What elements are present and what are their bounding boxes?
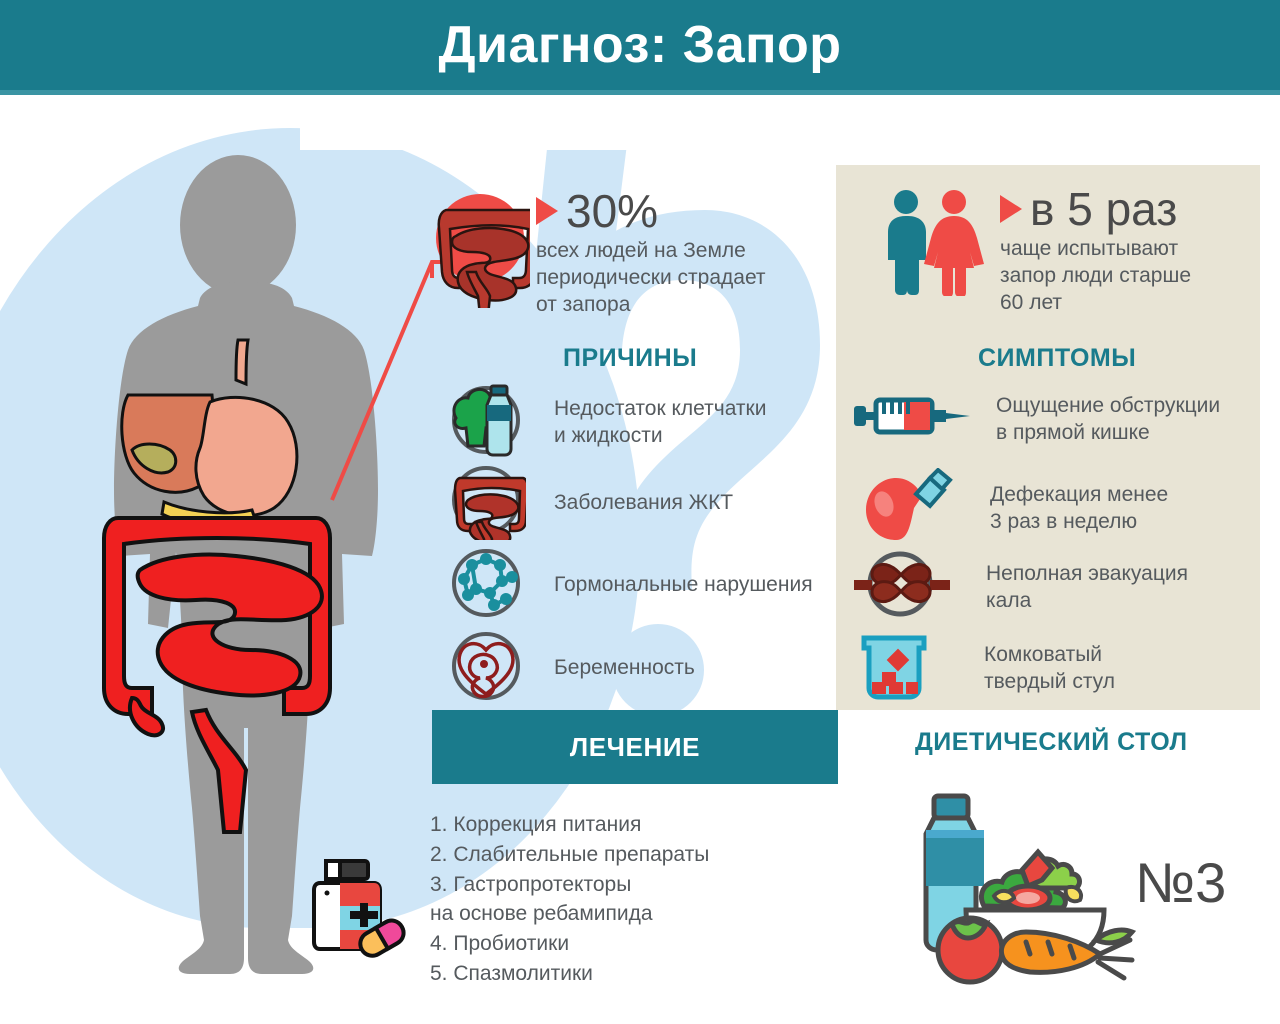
causes-heading: ПРИЧИНЫ <box>563 344 697 373</box>
cause-item-gi-disease: Заболевания ЖКТ <box>446 462 733 545</box>
cause-label-gi-disease: Заболевания ЖКТ <box>554 490 733 517</box>
symptom-label-hard-stool: Комковатый твердый стул <box>984 642 1115 696</box>
symptom-label-obstruction: Ощущение обструкции в прямой кишке <box>996 393 1220 447</box>
medicine-bottle-pills-icon <box>300 855 410 970</box>
diet-number: №3 <box>1135 855 1226 911</box>
treatment-heading: ЛЕЧЕНИЕ <box>570 732 700 763</box>
cause-item-hormonal: Гормональные нарушения <box>446 545 813 626</box>
embryo-heart-icon <box>446 628 526 709</box>
treatment-item: 3. Гастропротекторы на основе ребамипида <box>430 870 830 930</box>
knot-icon <box>852 548 962 627</box>
colon-icon <box>446 462 526 545</box>
treatment-banner: ЛЕЧЕНИЕ <box>432 710 838 784</box>
stat-value-prevalence: 30% <box>536 188 766 234</box>
stat-desc-age-risk: чаще испытывают запор люди старше 60 лет <box>1000 236 1191 317</box>
broccoli-water-bottle-icon <box>446 382 526 463</box>
triangle-bullet-icon <box>1000 195 1022 223</box>
cause-label-fiber-fluid: Недостаток клетчатки и жидкости <box>554 396 766 450</box>
cause-item-fiber-fluid: Недостаток клетчатки и жидкости <box>446 382 766 463</box>
hard-stool-bucket-icon <box>856 630 960 707</box>
page-title: Диагноз: Запор <box>438 19 841 71</box>
intestine-icon <box>430 188 530 313</box>
symptom-item-frequency: Дефекация менее 3 раз в неделю <box>856 468 1168 549</box>
treatment-list: 1. Коррекция питания 2. Слабительные пре… <box>430 810 830 989</box>
symptom-item-obstruction: Ощущение обструкции в прямой кишке <box>852 392 1220 447</box>
symptom-item-incomplete: Неполная эвакуация кала <box>852 548 1188 627</box>
infographic-canvas: Диагноз: Запор 30% всех людей на Земле п… <box>0 0 1280 1024</box>
treatment-item: 4. Пробиотики <box>430 929 830 959</box>
cause-label-pregnancy: Беременность <box>554 655 695 682</box>
symptom-item-hard-stool: Комковатый твердый стул <box>856 630 1115 707</box>
stat-desc-prevalence: всех людей на Земле периодически страдае… <box>536 238 766 319</box>
stat-age-risk: в 5 раз чаще испытывают запор люди старш… <box>880 186 1191 317</box>
cause-item-pregnancy: Беременность <box>446 628 695 709</box>
stat-value-age-risk: в 5 раз <box>1000 186 1191 232</box>
header-underline <box>0 90 1280 95</box>
background-cut <box>300 110 680 150</box>
man-woman-icon <box>880 186 986 301</box>
stat-prevalence: 30% всех людей на Земле периодически стр… <box>430 188 766 319</box>
page-header: Диагноз: Запор <box>0 0 1280 90</box>
enema-bulb-icon <box>856 468 966 549</box>
treatment-item: 1. Коррекция питания <box>430 810 830 840</box>
molecule-icon <box>446 545 526 626</box>
diet-heading: ДИЕТИЧЕСКИЙ СТОЛ <box>915 728 1188 757</box>
syringe-icon <box>852 392 972 447</box>
symptom-label-incomplete: Неполная эвакуация кала <box>986 561 1188 615</box>
symptom-label-frequency: Дефекация менее 3 раз в неделю <box>990 482 1168 536</box>
symptoms-heading: СИМПТОМЫ <box>978 344 1136 373</box>
vegetables-water-bowl-icon <box>908 790 1138 995</box>
treatment-item: 5. Спазмолитики <box>430 959 830 989</box>
treatment-item: 2. Слабительные препараты <box>430 840 830 870</box>
triangle-bullet-icon <box>536 197 558 225</box>
cause-label-hormonal: Гормональные нарушения <box>554 572 813 599</box>
